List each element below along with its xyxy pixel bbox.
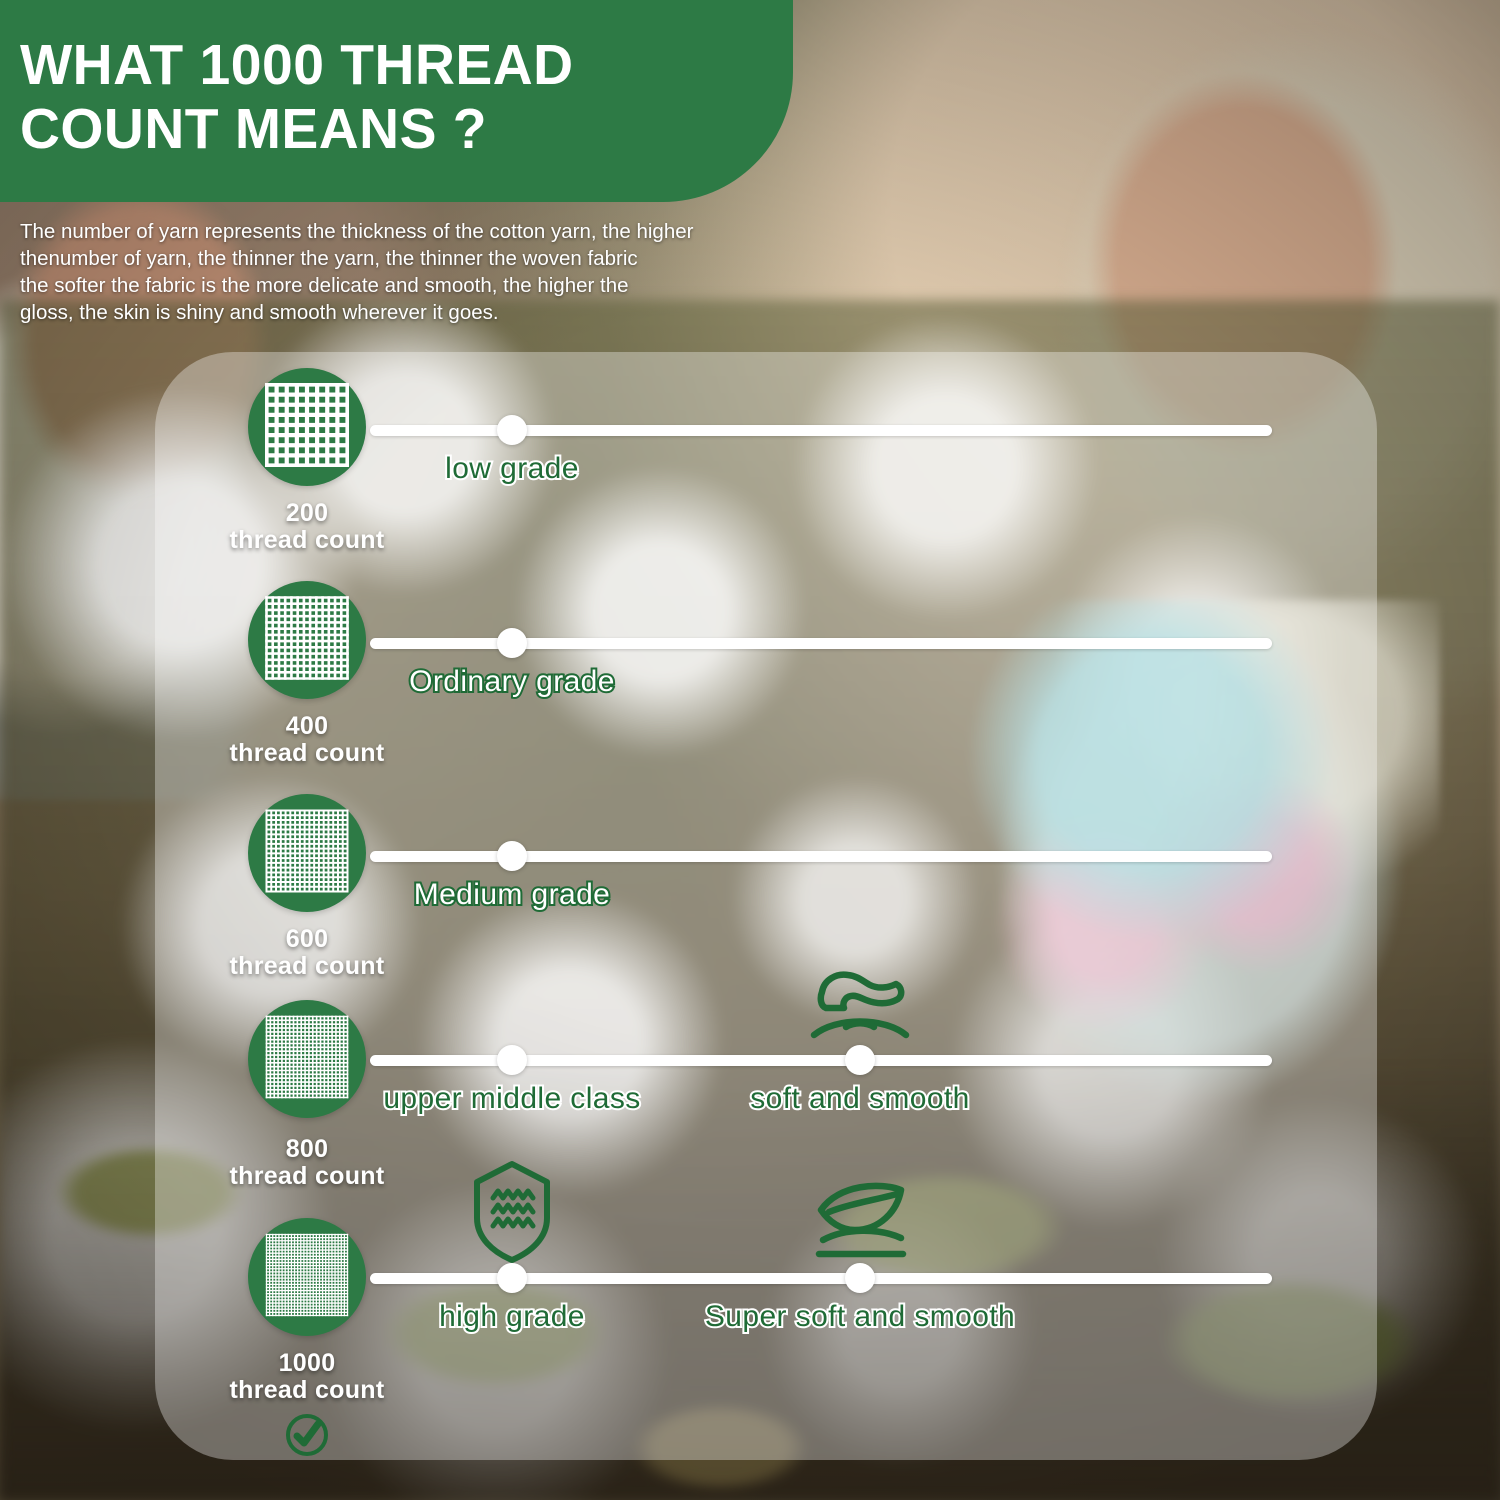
grade-marker-dot[interactable] <box>497 415 527 445</box>
grade-marker-dot[interactable] <box>497 1045 527 1075</box>
grade-marker-dot[interactable] <box>497 841 527 871</box>
grade-label: low grade <box>212 452 812 486</box>
thread-count-value-label: 800 thread count <box>187 1136 427 1190</box>
grade-label: Ordinary grade <box>212 665 812 699</box>
infographic-canvas: WHAT 1000 THREAD COUNT MEANS ? The numbe… <box>0 0 1500 1500</box>
thread-count-rows: 200 thread countlow grade 400 thread cou… <box>0 0 1500 1500</box>
grade-label: soft and smooth <box>560 1082 1160 1116</box>
shield-waves-icon <box>469 1160 555 1269</box>
feather-leaf-icon <box>805 1176 915 1269</box>
grade-marker-dot[interactable] <box>497 628 527 658</box>
grade-label: Medium grade <box>212 878 812 912</box>
soft-touch-hand-icon <box>804 964 916 1051</box>
thread-count-value-label: 400 thread count <box>187 713 427 767</box>
thread-count-value-label: 1000 thread count <box>187 1350 427 1404</box>
thread-count-value-label: 600 thread count <box>187 926 427 980</box>
thread-count-value-label: 200 thread count <box>187 500 427 554</box>
grade-label: Super soft and smooth <box>560 1300 1160 1334</box>
check-circle-icon <box>284 1412 330 1463</box>
